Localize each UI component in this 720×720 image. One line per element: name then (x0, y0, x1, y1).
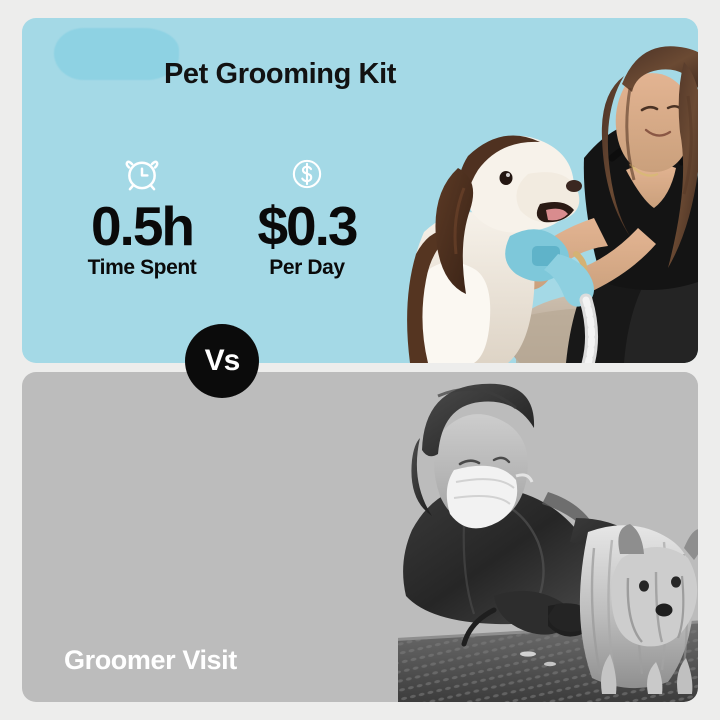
vs-badge: Vs (185, 324, 259, 398)
stats-group-kit: 0.5h Time Spent $0.3 Per Day (62, 150, 392, 280)
vs-badge-label: Vs (205, 346, 240, 376)
stat-label: Time Spent (88, 256, 197, 280)
groomer-visit-title: Groomer Visit (64, 645, 237, 676)
stat-value: 0.5h (91, 198, 193, 254)
stat-kit-cost: $0.3 Per Day (222, 150, 392, 280)
panel-pet-grooming-kit: Pet Grooming Kit 0.5h Time Spent (22, 18, 698, 363)
stat-value: $0.3 (257, 198, 356, 254)
stat-label: Per Day (269, 256, 344, 280)
panel-groomer-visit: 5h+ Time Spent $75+ Per Session Groomer … (22, 372, 698, 702)
comparison-infographic: Pet Grooming Kit 0.5h Time Spent (0, 0, 720, 720)
woman-grooming-spaniel-photo (398, 18, 698, 363)
alarm-clock-icon (119, 150, 165, 198)
stat-kit-time: 0.5h Time Spent (62, 150, 222, 280)
dollar-circle-icon (286, 150, 328, 198)
masked-groomer-clipping-yorkie-photo (398, 372, 698, 702)
